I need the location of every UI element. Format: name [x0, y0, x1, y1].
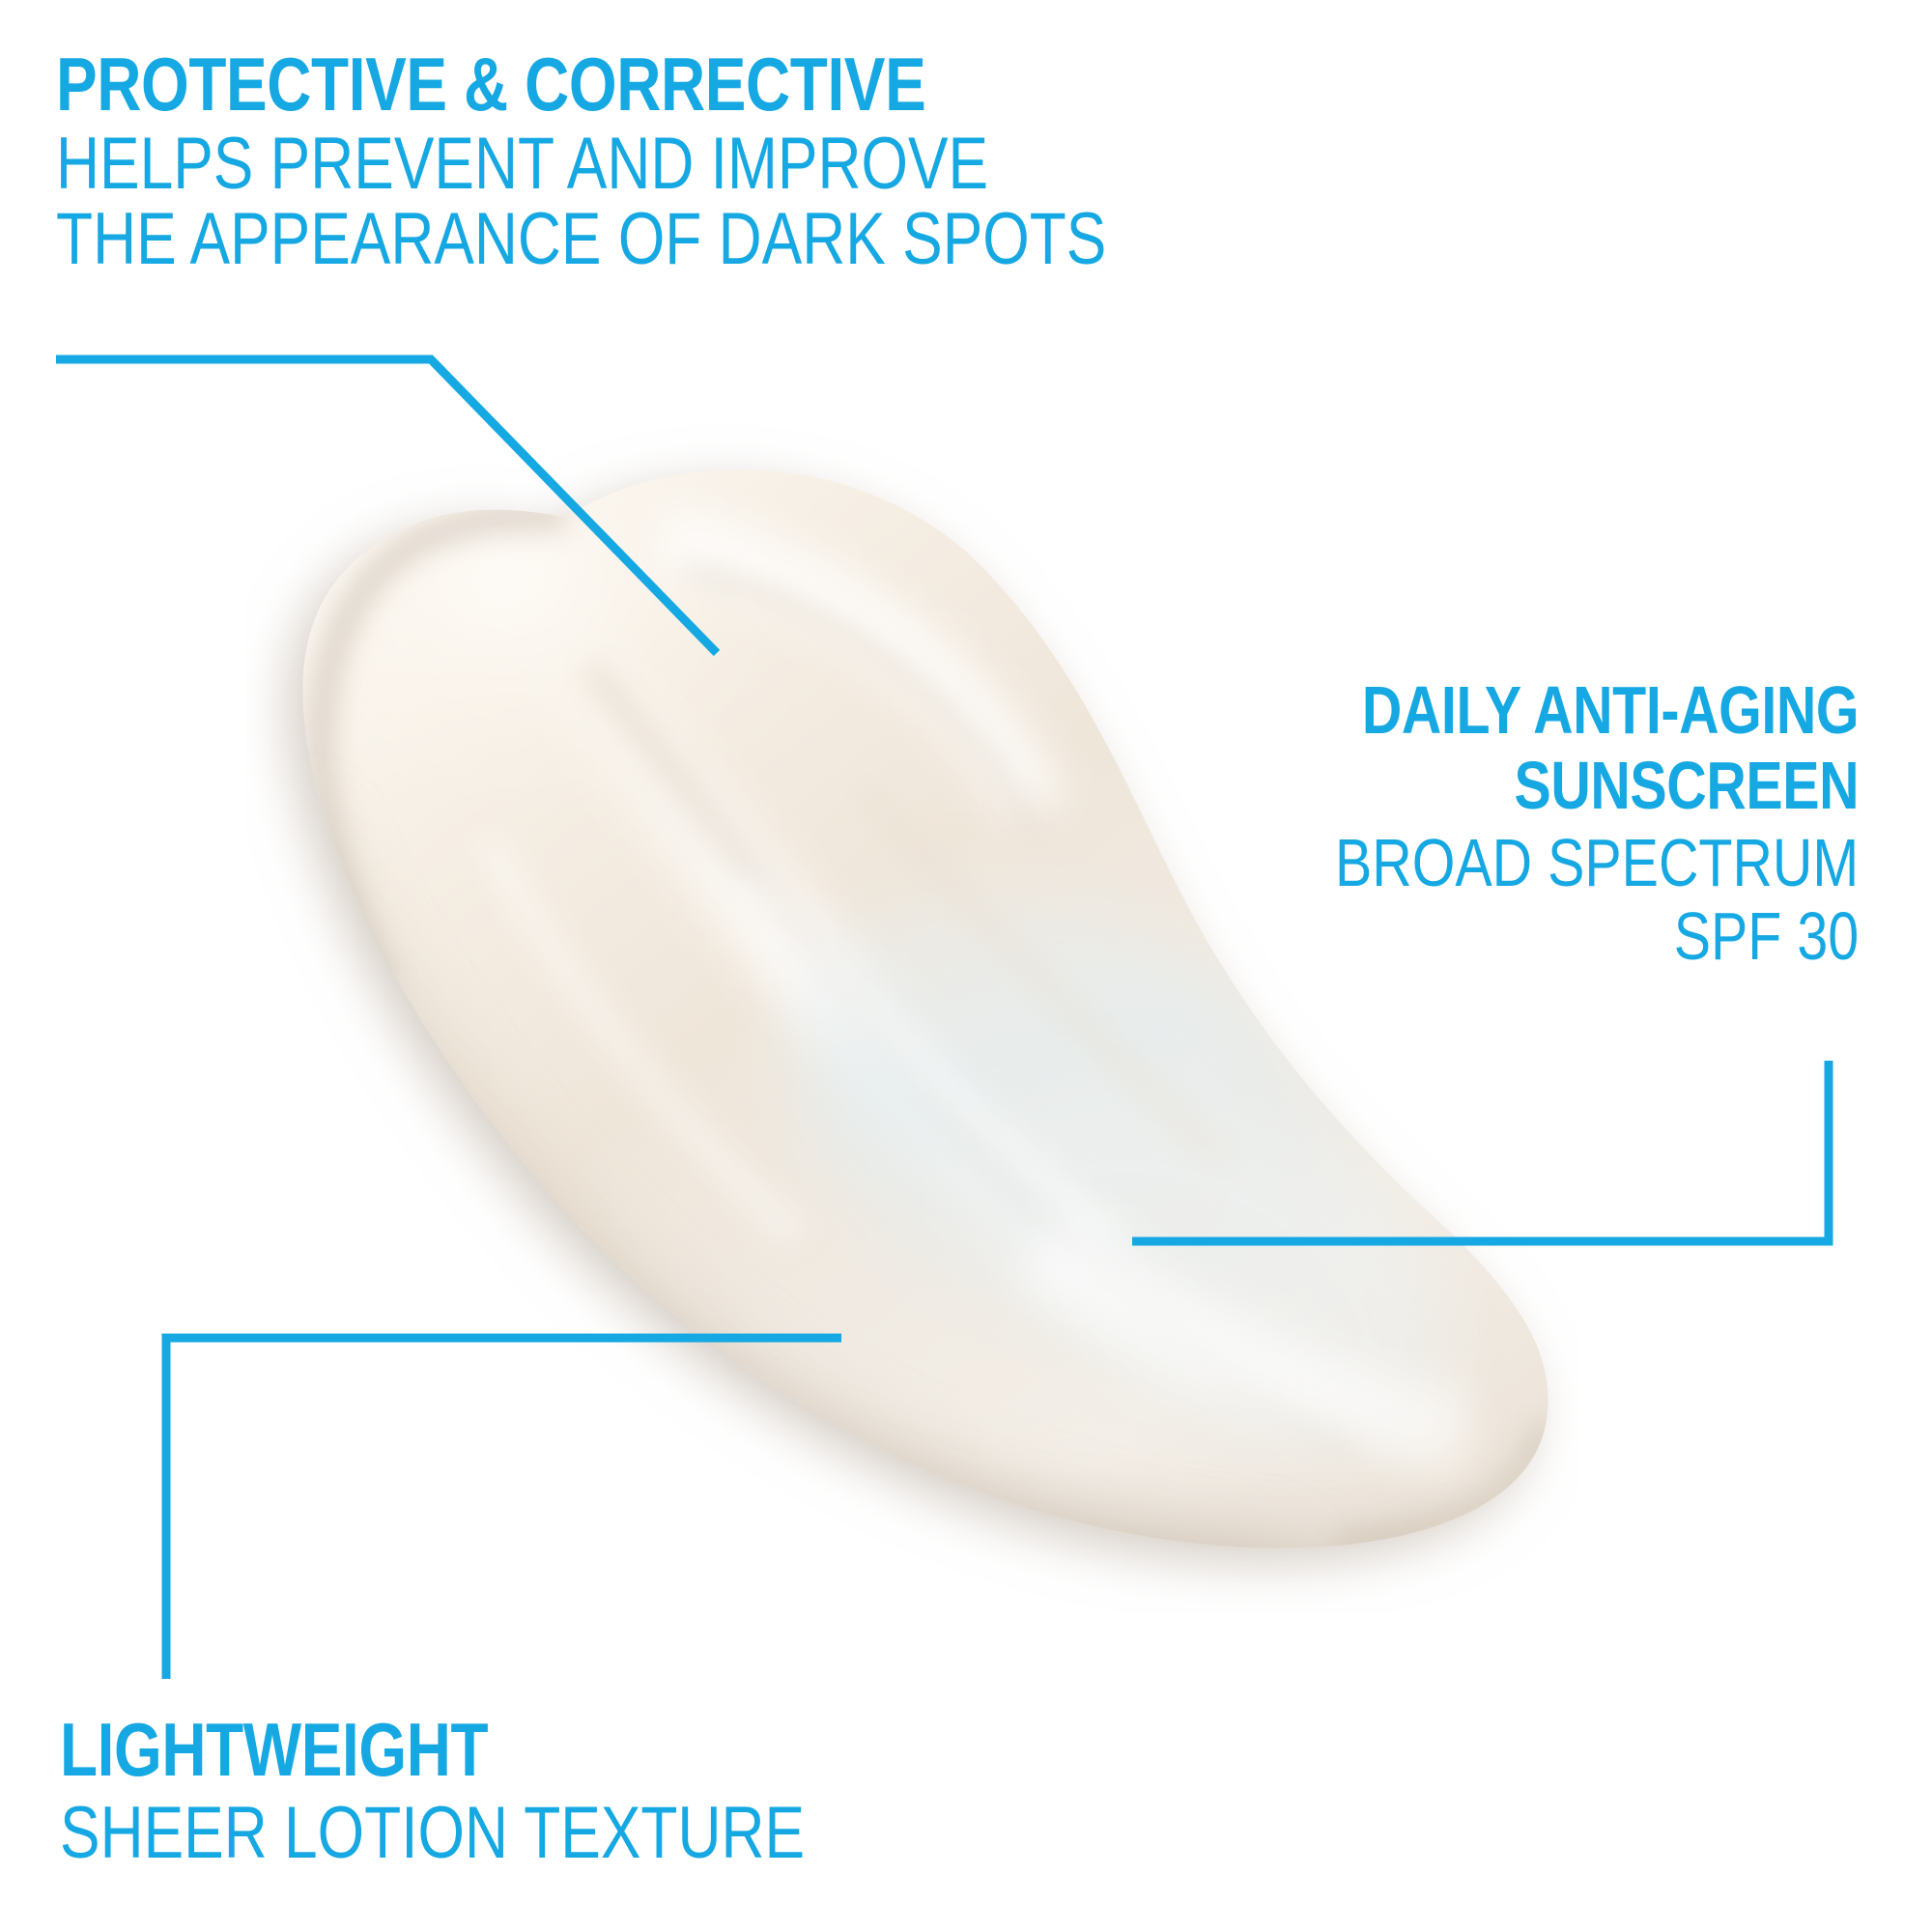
- callout-right-headline-2: SUNSCREEN: [1335, 752, 1859, 819]
- callout-right-sub-2: SPF 30: [1335, 902, 1859, 970]
- callout-top-left-sub-2: THE APPEARANCE OF DARK SPOTS: [56, 203, 1106, 276]
- callout-right: DAILY ANTI-AGING SUNSCREEN BROAD SPECTRU…: [1220, 676, 1859, 970]
- callout-bottom-left: LIGHTWEIGHT SHEER LOTION TEXTURE: [60, 1712, 968, 1870]
- product-feature-graphic: PROTECTIVE & CORRECTIVE HELPS PREVENT AN…: [0, 0, 1932, 1932]
- callout-top-left: PROTECTIVE & CORRECTIVE HELPS PREVENT AN…: [56, 46, 1337, 276]
- callout-right-sub-1: BROAD SPECTRUM: [1335, 829, 1859, 896]
- callout-top-left-headline: PROTECTIVE & CORRECTIVE: [56, 46, 1106, 122]
- lotion-swatch: [246, 425, 1579, 1613]
- callout-right-headline-1: DAILY ANTI-AGING: [1335, 676, 1859, 744]
- callout-bottom-left-sub-1: SHEER LOTION TEXTURE: [60, 1797, 805, 1870]
- callout-top-left-sub-1: HELPS PREVENT AND IMPROVE: [56, 128, 1106, 201]
- callout-bottom-left-headline: LIGHTWEIGHT: [60, 1712, 805, 1787]
